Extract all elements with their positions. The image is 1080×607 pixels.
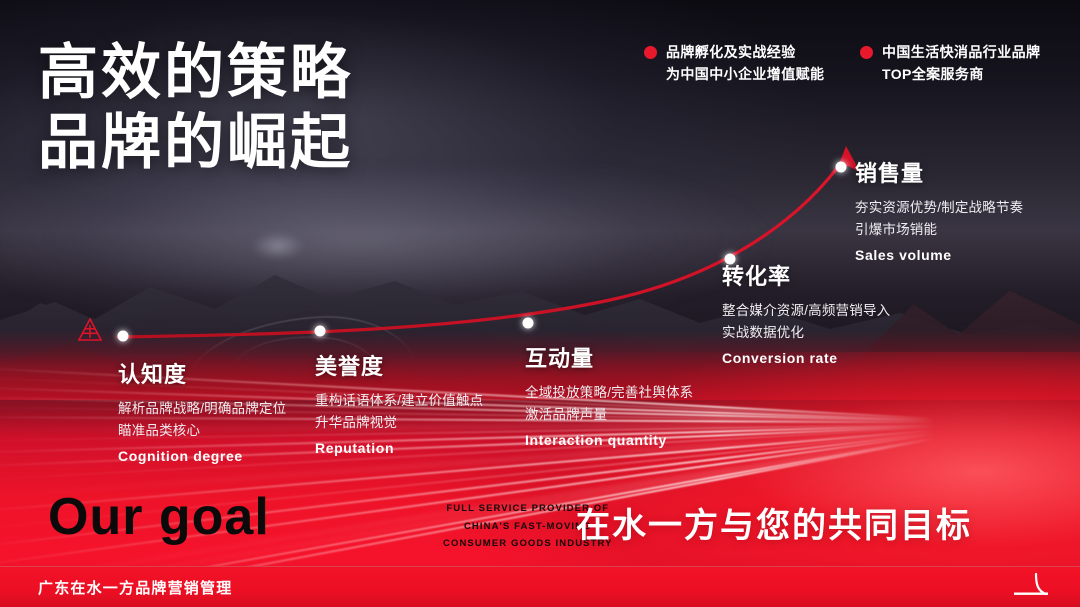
legend-item-2: 中国生活快消品行业品牌 TOP全案服务商: [860, 42, 1040, 85]
curve-node-sales: [836, 162, 847, 173]
milestone-cognition-english: Cognition degree: [118, 448, 286, 464]
milestone-cognition: 认知度 解析品牌战略/明确品牌定位 瞄准品类核心 Cognition degre…: [118, 357, 286, 464]
legend-bullet-icon: [644, 46, 657, 59]
curve-node-interaction: [523, 318, 534, 329]
milestone-interaction: 互动量 全域投放策略/完善社舆体系 激活品牌声量 Interaction qua…: [525, 341, 693, 448]
milestone-reputation-english: Reputation: [315, 440, 483, 456]
footer-company-name: 广东在水一方品牌营销管理: [38, 577, 232, 598]
milestone-cognition-title: 认知度: [118, 357, 286, 389]
milestone-sales: 销售量 夯实资源优势/制定战略节奏 引爆市场销能 Sales volume: [855, 156, 1023, 263]
milestone-cognition-desc-1: 解析品牌战略/明确品牌定位: [118, 398, 286, 420]
milestone-reputation: 美誉度 重构话语体系/建立价值触点 升华品牌视觉 Reputation: [315, 349, 483, 456]
our-goal-heading: Our goal: [48, 487, 270, 547]
legend-item-1-line-2: 为中国中小企业增值赋能: [666, 64, 824, 86]
milestone-reputation-desc-2: 升华品牌视觉: [315, 412, 483, 434]
milestone-sales-title: 销售量: [855, 156, 1023, 188]
milestone-sales-english: Sales volume: [855, 247, 1023, 263]
milestone-conversion-english: Conversion rate: [722, 350, 890, 366]
milestone-conversion-desc-2: 实战数据优化: [722, 322, 890, 344]
sun-flare: [252, 232, 304, 260]
goal-heading-chinese: 在水一方与您的共同目标: [576, 498, 972, 547]
milestone-conversion: 转化率 整合媒介资源/高频营销导入 实战数据优化 Conversion rate: [722, 259, 890, 366]
corner-brand-icon: [1008, 572, 1054, 600]
legend-item-1-text: 品牌孵化及实战经验 为中国中小企业增值赋能: [666, 42, 824, 85]
milestone-conversion-title: 转化率: [722, 259, 890, 291]
curve-node-reputation: [315, 326, 326, 337]
milestone-reputation-title: 美誉度: [315, 349, 483, 381]
legend-item-1-line-1: 品牌孵化及实战经验: [666, 42, 824, 64]
legend-bullet-icon: [860, 46, 873, 59]
legend-item-1: 品牌孵化及实战经验 为中国中小企业增值赋能: [644, 42, 824, 85]
legend-item-2-line-1: 中国生活快消品行业品牌: [882, 42, 1040, 64]
milestone-interaction-title: 互动量: [525, 341, 693, 373]
slide-canvas: 高效的策略 品牌的崛起 品牌孵化及实战经验 为中国中小企业增值赋能 中国生活快消…: [0, 0, 1080, 607]
headline-line-1: 高效的策略: [38, 38, 353, 108]
milestone-interaction-english: Interaction quantity: [525, 432, 693, 448]
legend-item-2-text: 中国生活快消品行业品牌 TOP全案服务商: [882, 42, 1040, 85]
milestone-interaction-desc-1: 全域投放策略/完善社舆体系: [525, 382, 693, 404]
brand-triangle-icon: [78, 318, 102, 342]
legend-item-2-line-2: TOP全案服务商: [882, 64, 1040, 86]
curve-node-cognition: [118, 331, 129, 342]
milestone-sales-desc-1: 夯实资源优势/制定战略节奏: [855, 197, 1023, 219]
page-title: 高效的策略 品牌的崛起: [38, 38, 353, 178]
milestone-reputation-desc-1: 重构话语体系/建立价值触点: [315, 390, 483, 412]
milestone-conversion-desc-1: 整合媒介资源/高频营销导入: [722, 300, 890, 322]
headline-line-2: 品牌的崛起: [38, 108, 353, 178]
milestone-sales-desc-2: 引爆市场销能: [855, 219, 1023, 241]
milestone-interaction-desc-2: 激活品牌声量: [525, 404, 693, 426]
milestone-cognition-desc-2: 瞄准品类核心: [118, 420, 286, 442]
